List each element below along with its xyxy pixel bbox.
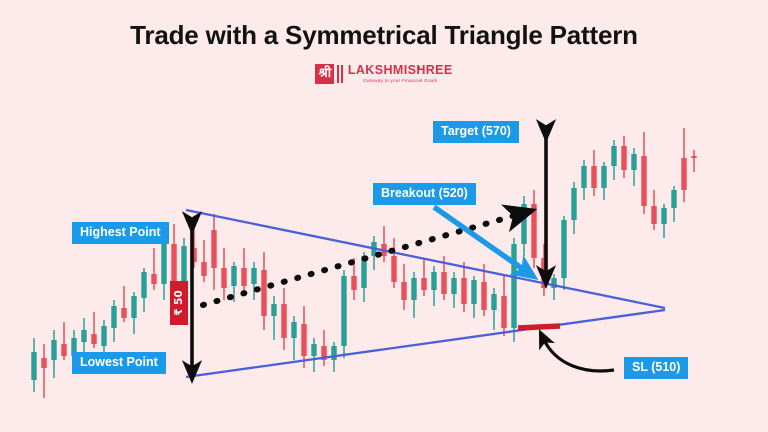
lower-trendline [186,310,665,377]
infographic-canvas: Trade with a Symmetrical Triangle Patter… [0,0,768,432]
label-stop-loss[interactable]: SL (510) [624,357,688,379]
label-highest-point[interactable]: Highest Point [72,222,169,244]
pattern-height-tag: ₹ 50 [170,281,188,325]
sl-pointer-arrow [543,338,614,371]
pattern-height-value: ₹ 50 [170,281,188,325]
label-lowest-point[interactable]: Lowest Point [72,352,166,374]
upper-trendline [186,210,665,308]
label-breakout[interactable]: Breakout (520) [373,183,476,205]
stop-loss-line [518,326,560,328]
label-target[interactable]: Target (570) [433,121,519,143]
dotted-breakout-path [203,214,520,305]
